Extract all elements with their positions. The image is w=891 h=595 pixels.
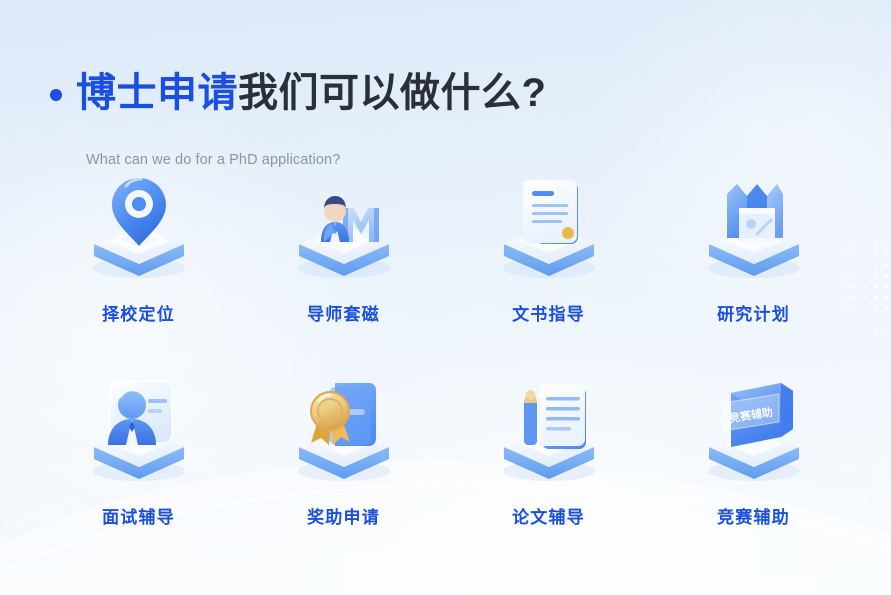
service-item-thesis[interactable]: 论文辅导 <box>446 363 651 566</box>
bullet-dot-icon <box>50 89 62 101</box>
research-plan-icon <box>679 164 829 282</box>
service-label: 文书指导 <box>512 300 585 325</box>
slide-root: 博士申请我们可以做什么? What can we do for a PhD ap… <box>0 0 891 595</box>
service-label: 奖助申请 <box>307 503 380 528</box>
page-title-rest: 我们可以做什么? <box>238 71 546 115</box>
competition-screen-icon: 竞赛辅助 <box>679 367 829 485</box>
interview-screen-icon <box>64 367 214 485</box>
page-title: 博士申请我们可以做什么? <box>76 71 546 115</box>
mentor-magnet-icon <box>269 164 419 282</box>
document-icon <box>474 164 624 282</box>
service-label: 导师套磁 <box>307 300 380 325</box>
thesis-paper-icon <box>474 367 624 485</box>
service-item-award[interactable]: 奖助申请 <box>241 363 446 566</box>
service-label: 面试辅导 <box>102 503 175 528</box>
service-item-competition[interactable]: 竞赛辅助 竞赛辅助 <box>651 363 856 566</box>
service-item-interview[interactable]: 面试辅导 <box>36 363 241 566</box>
header: 博士申请我们可以做什么? What can we do for a PhD ap… <box>50 44 770 168</box>
service-item-location[interactable]: 择校定位 <box>36 160 241 363</box>
service-item-document[interactable]: 文书指导 <box>446 160 651 363</box>
title-row: 博士申请我们可以做什么? <box>50 44 770 142</box>
award-medal-icon <box>269 367 419 485</box>
service-label: 竞赛辅助 <box>717 503 790 528</box>
service-label: 研究计划 <box>717 300 790 325</box>
service-label: 论文辅导 <box>512 503 585 528</box>
service-item-research[interactable]: 研究计划 <box>651 160 856 363</box>
page-title-highlight: 博士申请 <box>76 71 238 115</box>
service-label: 择校定位 <box>102 300 175 325</box>
service-grid: 择校定位 <box>36 160 856 566</box>
service-item-mentor[interactable]: 导师套磁 <box>241 160 446 363</box>
location-pin-icon <box>64 164 214 282</box>
